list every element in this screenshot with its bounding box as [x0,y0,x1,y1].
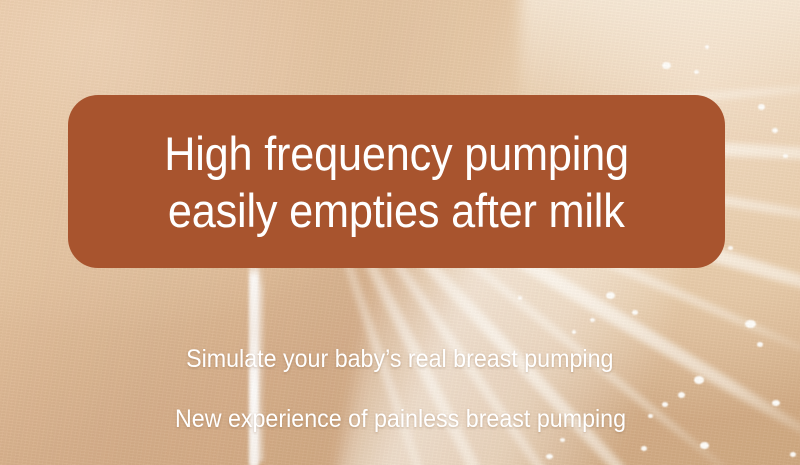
milk-droplet [758,104,765,110]
subtitle-line-2: New experience of painless breast pumpin… [0,404,800,434]
promo-banner: High frequency pumping easily empties af… [0,0,800,465]
milk-droplet [694,70,699,74]
milk-droplet [705,45,709,49]
subtitle-line-2-text: New experience of painless breast pumpin… [174,404,625,434]
milk-droplet [662,62,671,69]
subtitle-line-1-text: Simulate your baby’s real breast pumping [186,344,613,374]
headline-line-1: High frequency pumping [164,125,629,182]
headline-plate: High frequency pumping easily empties af… [68,95,725,268]
headline-line-2: easily empties after milk [168,182,625,239]
subtitle-line-1: Simulate your baby’s real breast pumping [0,344,800,374]
